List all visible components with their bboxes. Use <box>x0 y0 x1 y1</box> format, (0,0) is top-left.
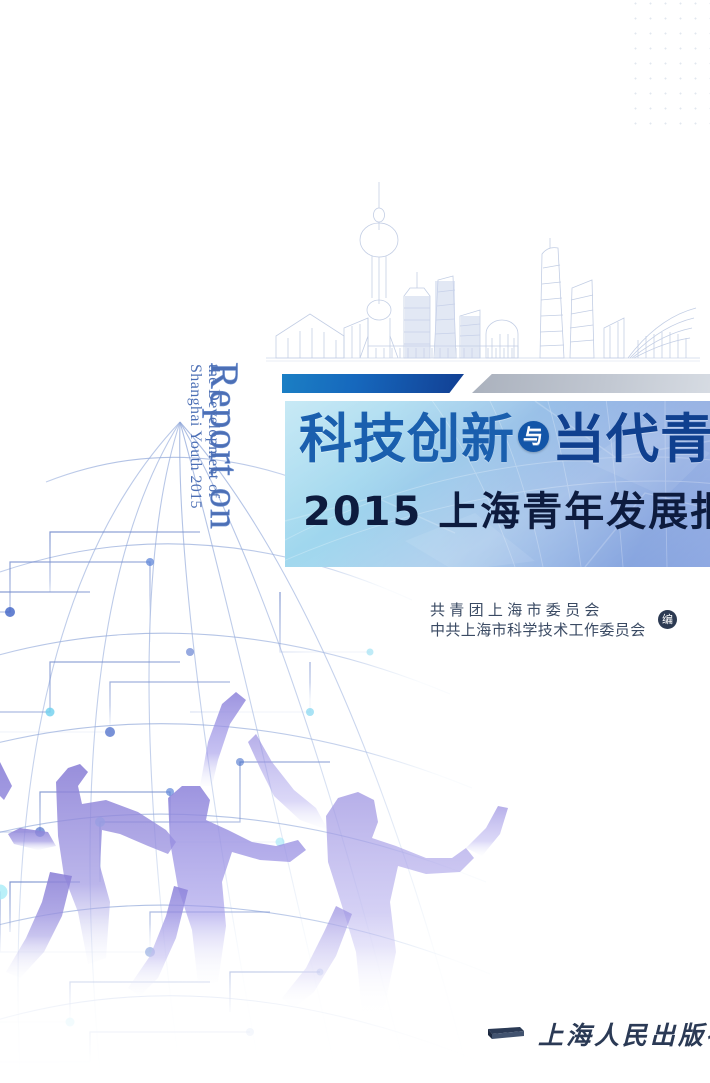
subtitle: 2015 上海青年发展报告 <box>303 487 710 537</box>
banner-bars <box>280 372 710 398</box>
book-cover: Report on the Development of Shanghai Yo… <box>0 0 710 1083</box>
publisher-name: 上海人民出版社 <box>538 1016 710 1052</box>
publisher-logo-icon <box>486 1025 526 1043</box>
bottom-white-fade <box>0 913 710 1083</box>
author-role-badge: 编 <box>658 610 677 629</box>
banner-bar-blue <box>282 374 464 393</box>
vertical-title-line2: the Development of <box>204 364 222 498</box>
banner-bar-gray <box>472 374 710 393</box>
vertical-english-title: Report on the Development of Shanghai Yo… <box>178 362 256 572</box>
title-block: 科技创新与当代青年 2015 上海青年发展报告 <box>285 401 710 567</box>
main-title-badge: 与 <box>518 421 549 452</box>
publisher-block: 上海人民出版社 <box>486 1016 710 1052</box>
dot-grid-pattern-icon <box>628 0 710 130</box>
main-title-part-2: 当代青年 <box>552 409 710 470</box>
jumping-youth-silhouettes-icon <box>0 690 520 1020</box>
main-title: 科技创新与当代青年 <box>299 409 710 471</box>
main-title-part-1: 科技创新 <box>299 409 515 470</box>
authors-block: 共青团上海市委员会 中共上海市科学技术工作委员会 编 <box>430 600 710 640</box>
shanghai-pudong-skyline-icon <box>248 168 710 373</box>
vertical-title-line3: Shanghai Youth 2015 <box>186 364 204 509</box>
